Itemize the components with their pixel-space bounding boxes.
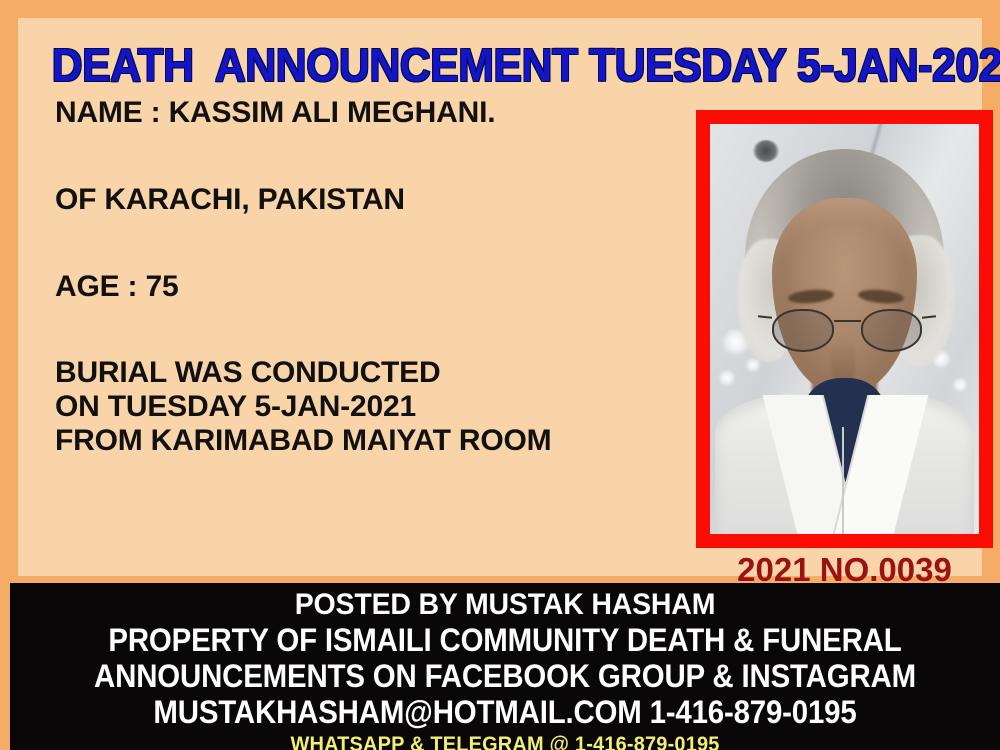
deceased-details: NAME : KASSIM ALI MEGHANI. OF KARACHI, P… [55,96,655,458]
spacer [55,304,655,356]
announcement-panel: DEATH ANNOUNCEMENT TUESDAY 5-JAN-2021 NA… [18,18,982,576]
deceased-name: NAME : KASSIM ALI MEGHANI. [55,96,655,130]
burial-line-1: BURIAL WAS CONDUCTED [55,356,655,390]
deceased-age: AGE : 75 [55,270,655,304]
footer-announcements-line: ANNOUNCEMENTS ON FACEBOOK GROUP & INSTAG… [50,658,961,694]
footer-credits: POSTED BY MUSTAK HASHAM PROPERTY OF ISMA… [10,583,1000,750]
eyeglass-bridge [834,320,861,322]
deceased-location: OF KARACHI, PAKISTAN [55,183,655,217]
page-title: DEATH ANNOUNCEMENT TUESDAY 5-JAN-2021 [52,40,949,90]
footer-whatsapp-telegram: WHATSAPP & TELEGRAM @ 1-416-879-0195 [35,730,976,750]
footer-email-phone: MUSTAKHASHAM@HOTMAIL.COM 1-416-879-0195 [50,694,961,730]
spacer [55,217,655,270]
burial-line-3: FROM KARIMABAD MAIYAT ROOM [55,424,655,458]
photo-highlight [745,358,761,372]
burial-line-2: ON TUESDAY 5-JAN-2021 [55,390,655,424]
eyeglass-lens-right [861,309,923,352]
spacer [55,130,655,183]
photo-highlight [718,370,736,386]
footer-property-line: PROPERTY OF ISMAILI COMMUNITY DEATH & FU… [50,622,961,658]
portrait-frame [696,110,993,548]
death-announcement-poster: DEATH ANNOUNCEMENT TUESDAY 5-JAN-2021 NA… [0,0,1000,750]
portrait-shirt-placket [842,427,844,534]
footer-posted-by: POSTED BY MUSTAK HASHAM [35,587,976,622]
portrait-photo [710,124,979,534]
eyeglass-lens-left [772,309,834,352]
